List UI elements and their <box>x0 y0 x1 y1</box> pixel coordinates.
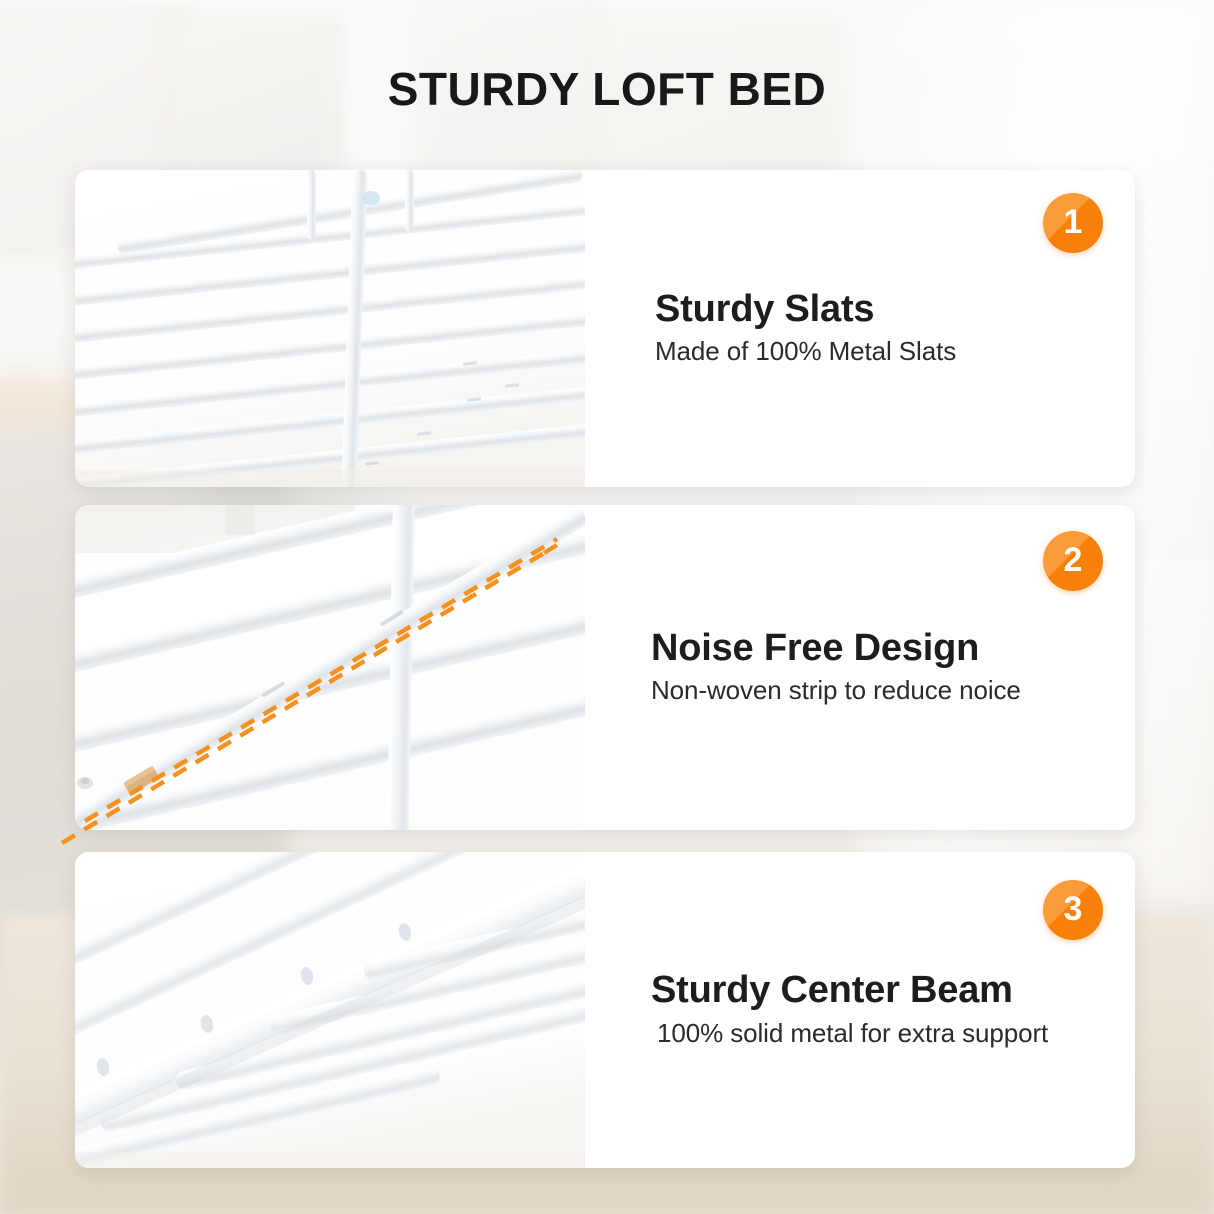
feature-card-3: Sturdy Center Beam 100% solid metal for … <box>75 852 1135 1168</box>
feature-heading: Sturdy Slats <box>655 288 1095 332</box>
noise-free-slats-illustration <box>75 505 585 830</box>
metal-slats-photo <box>75 170 585 487</box>
feature-number-badge: 1 <box>1043 193 1103 253</box>
feature-card-1: Sturdy Slats Made of 100% Metal Slats 1 <box>75 170 1135 487</box>
feature-heading: Noise Free Design <box>651 627 1095 671</box>
feature-subheading: Non-woven strip to reduce noice <box>651 674 1095 708</box>
feature-card-2: Noise Free Design Non-woven strip to red… <box>75 505 1135 830</box>
center-beam-illustration <box>75 852 585 1168</box>
feature-subheading: 100% solid metal for extra support <box>657 1017 1095 1051</box>
center-beam-photo <box>75 852 585 1168</box>
feature-number-badge: 3 <box>1043 880 1103 940</box>
feature-heading: Sturdy Center Beam <box>651 969 1095 1013</box>
noise-free-strip-photo <box>75 505 585 830</box>
feature-subheading: Made of 100% Metal Slats <box>655 335 1095 369</box>
metal-slats-illustration <box>75 170 585 487</box>
page-title: STURDY LOFT BED <box>0 62 1214 116</box>
feature-number-badge: 2 <box>1043 531 1103 591</box>
